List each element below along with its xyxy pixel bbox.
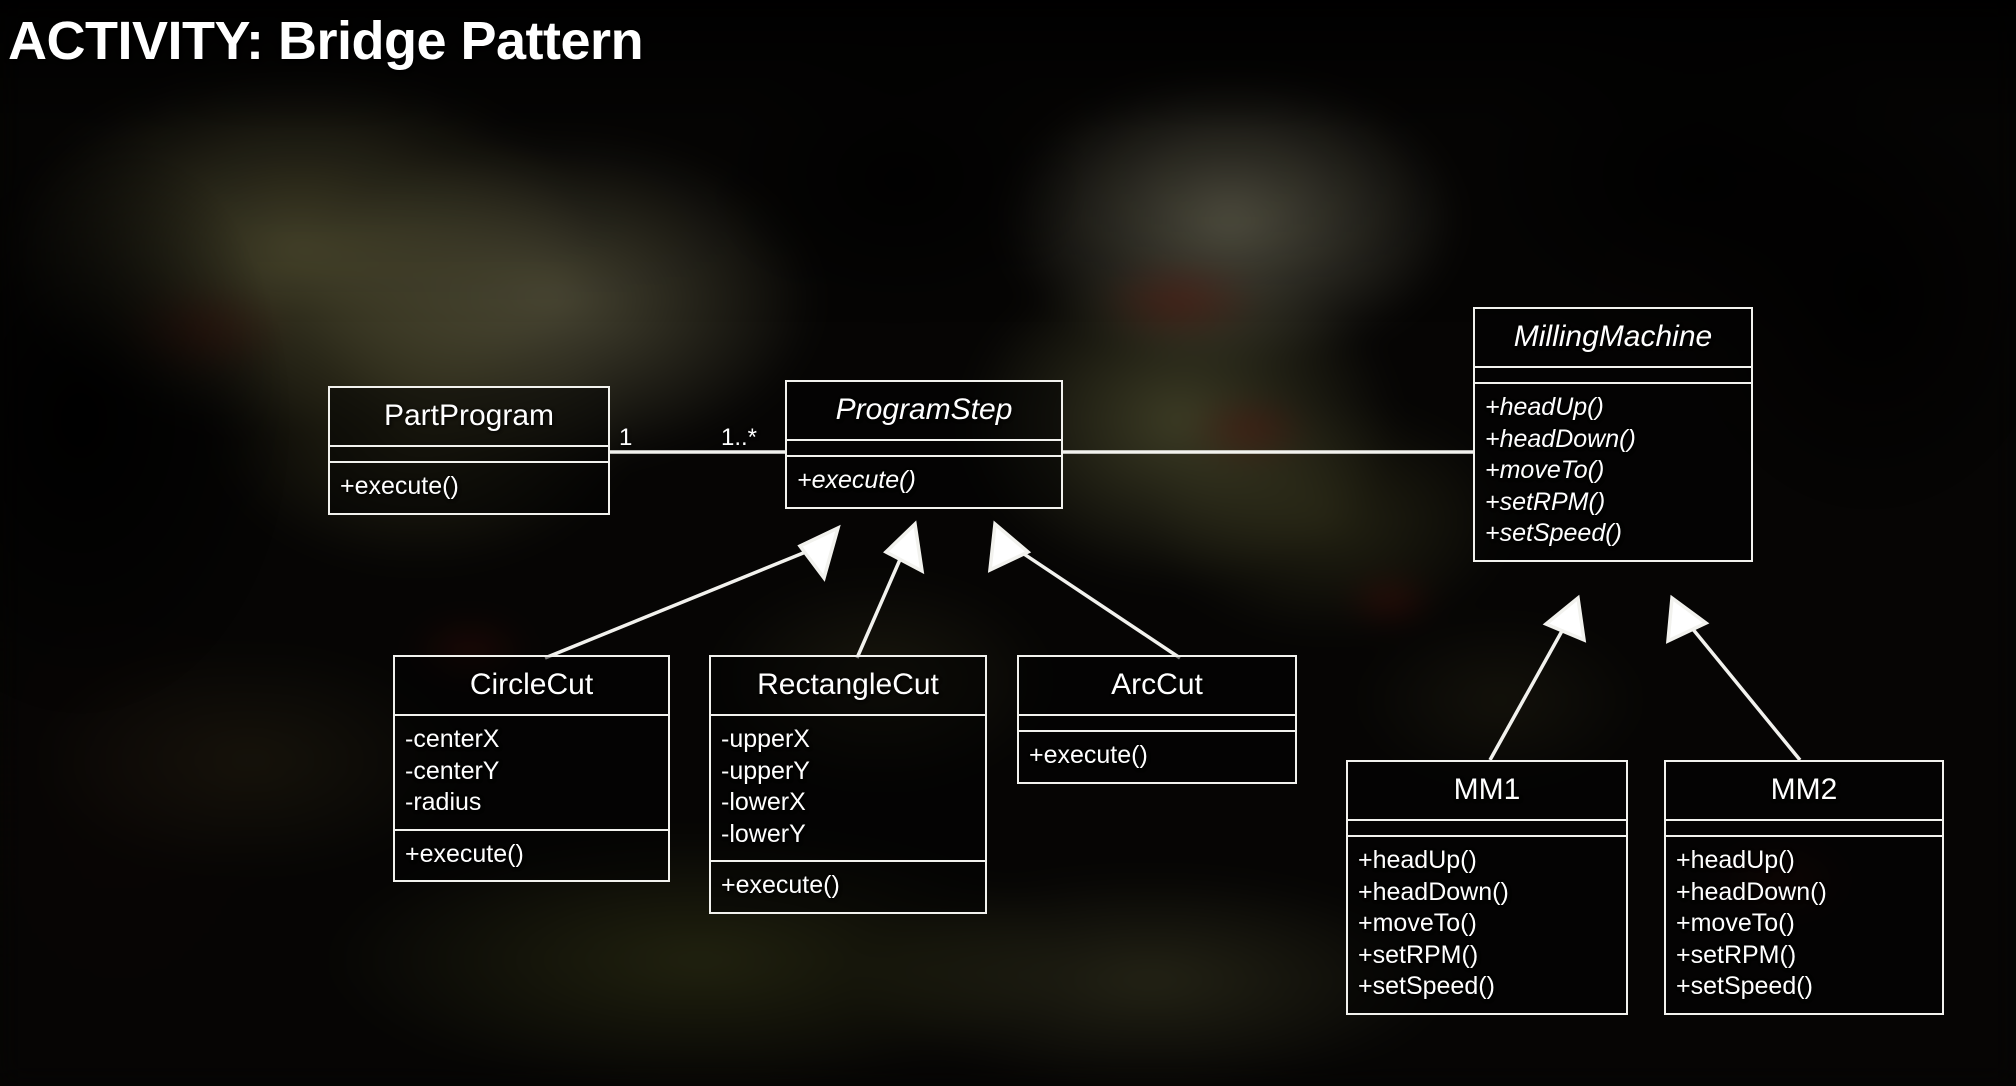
methods-compartment-partprogram: +execute() (330, 461, 608, 513)
method-row: +execute() (721, 870, 975, 902)
method-row: +setRPM() (1485, 487, 1741, 519)
attribute-row: -upperX (721, 724, 975, 756)
attribute-row: -centerY (405, 756, 658, 788)
class-name-circlecut: CircleCut (395, 657, 668, 714)
method-row: +setRPM() (1676, 940, 1932, 972)
class-name-programstep: ProgramStep (787, 382, 1061, 439)
method-row: +execute() (797, 465, 1051, 497)
attribute-row: -lowerX (721, 787, 975, 819)
generalization-rectanglecut-arrowhead (886, 524, 922, 571)
methods-compartment-mm2: +headUp() +headDown() +moveTo() +setRPM(… (1666, 835, 1942, 1013)
generalization-rectanglecut-line (857, 548, 905, 658)
class-name-partprogram: PartProgram (330, 388, 608, 445)
class-box-mm2[interactable]: MM2 +headUp() +headDown() +moveTo() +set… (1664, 760, 1944, 1015)
attribute-row: -lowerY (721, 819, 975, 851)
attributes-compartment-millingmachine (1475, 366, 1751, 382)
methods-compartment-programstep: +execute() (787, 455, 1061, 507)
generalization-mm2-arrowhead (1668, 598, 1706, 641)
attributes-compartment-rectanglecut: -upperX -upperY -lowerX -lowerY (711, 714, 985, 860)
method-row: +execute() (1029, 740, 1285, 772)
class-box-mm1[interactable]: MM1 +headUp() +headDown() +moveTo() +set… (1346, 760, 1628, 1015)
method-row: +setSpeed() (1358, 971, 1616, 1003)
method-row: +headDown() (1676, 877, 1932, 909)
generalization-circlecut-line (545, 547, 818, 658)
method-row: +execute() (405, 839, 658, 871)
generalization-mm1-line (1490, 622, 1567, 760)
class-box-circlecut[interactable]: CircleCut -centerX -centerY -radius +exe… (393, 655, 670, 882)
attributes-compartment-mm1 (1348, 819, 1626, 835)
method-row: +setSpeed() (1676, 971, 1932, 1003)
generalization-circlecut-arrowhead (800, 528, 838, 578)
attribute-row: -radius (405, 787, 658, 819)
method-row: +headUp() (1358, 845, 1616, 877)
generalization-mm2-line (1687, 622, 1800, 760)
attributes-compartment-circlecut: -centerX -centerY -radius (395, 714, 668, 829)
method-row: +headDown() (1358, 877, 1616, 909)
method-row: +moveTo() (1358, 908, 1616, 940)
methods-compartment-millingmachine: +headUp() +headDown() +moveTo() +setRPM(… (1475, 382, 1751, 560)
class-name-rectanglecut: RectangleCut (711, 657, 985, 714)
class-name-mm1: MM1 (1348, 762, 1626, 819)
method-row: +moveTo() (1676, 908, 1932, 940)
multiplicity-partprogram: 1 (619, 424, 632, 452)
method-row: +setSpeed() (1485, 518, 1741, 550)
class-box-millingmachine[interactable]: MillingMachine +headUp() +headDown() +mo… (1473, 307, 1753, 562)
attributes-compartment-partprogram (330, 445, 608, 461)
attributes-compartment-mm2 (1666, 819, 1942, 835)
generalization-arccut-arrowhead (990, 524, 1028, 570)
generalization-mm1-arrowhead (1546, 598, 1584, 640)
method-row: +headUp() (1676, 845, 1932, 877)
slide-canvas: ACTIVITY: Bridge Pattern 1 1..* (0, 0, 2016, 1086)
class-name-arccut: ArcCut (1019, 657, 1295, 714)
method-row: +headDown() (1485, 424, 1741, 456)
class-box-programstep[interactable]: ProgramStep +execute() (785, 380, 1063, 509)
attribute-row: -centerX (405, 724, 658, 756)
methods-compartment-circlecut: +execute() (395, 829, 668, 881)
methods-compartment-rectanglecut: +execute() (711, 860, 985, 912)
method-row: +execute() (340, 471, 598, 503)
methods-compartment-mm1: +headUp() +headDown() +moveTo() +setRPM(… (1348, 835, 1626, 1013)
class-box-arccut[interactable]: ArcCut +execute() (1017, 655, 1297, 784)
class-name-mm2: MM2 (1666, 762, 1942, 819)
method-row: +moveTo() (1485, 455, 1741, 487)
multiplicity-programstep: 1..* (721, 424, 757, 452)
methods-compartment-arccut: +execute() (1019, 730, 1295, 782)
class-name-millingmachine: MillingMachine (1475, 309, 1751, 366)
class-box-partprogram[interactable]: PartProgram +execute() (328, 386, 610, 515)
attribute-row: -upperY (721, 756, 975, 788)
attributes-compartment-arccut (1019, 714, 1295, 730)
method-row: +setRPM() (1358, 940, 1616, 972)
attributes-compartment-programstep (787, 439, 1061, 455)
method-row: +headUp() (1485, 392, 1741, 424)
class-box-rectanglecut[interactable]: RectangleCut -upperX -upperY -lowerX -lo… (709, 655, 987, 914)
generalization-arccut-line (1015, 548, 1180, 658)
